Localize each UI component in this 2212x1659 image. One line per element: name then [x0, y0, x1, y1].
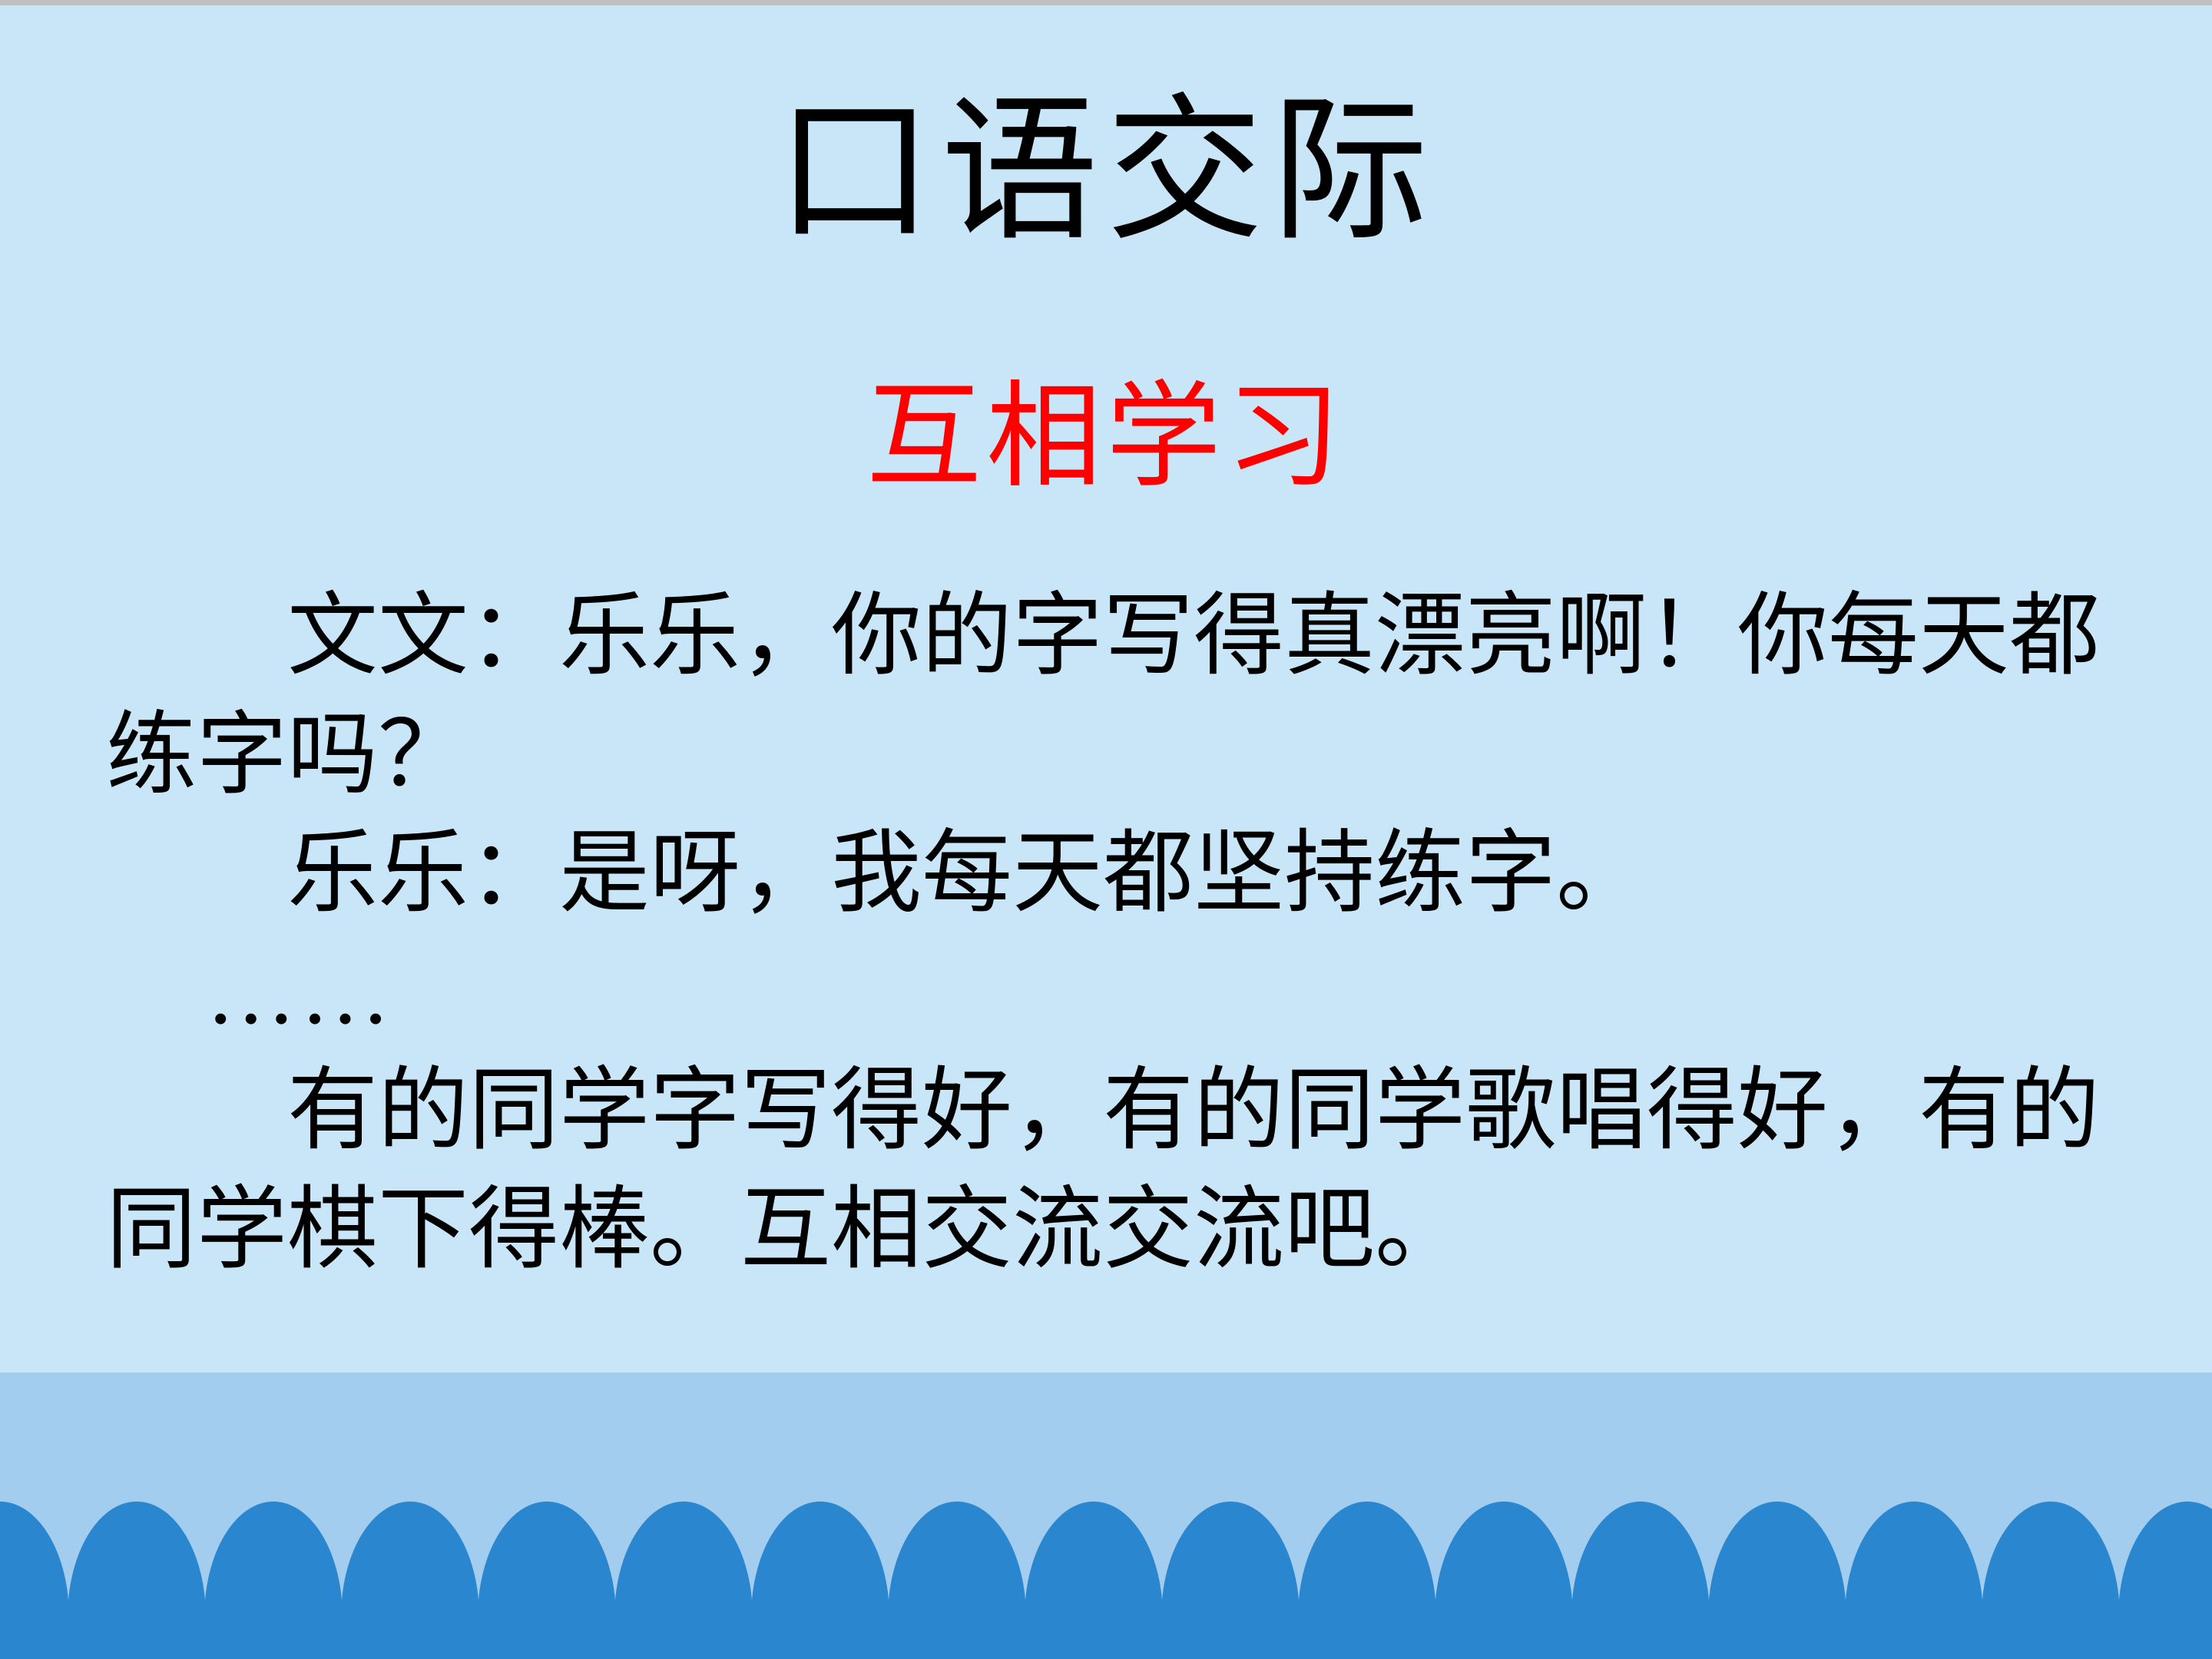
page-title: 口语交际: [0, 90, 2212, 255]
top-gray-bar: [0, 0, 2212, 5]
dome-shape: [68, 1584, 206, 1659]
dome-shape: [1161, 1584, 1300, 1659]
body-paragraph-2: 乐乐：是呀，我每天都坚持练字。: [106, 815, 2118, 934]
dome-shape: [2118, 1584, 2212, 1659]
dome-shape: [888, 1584, 1026, 1659]
body-text-block: 文文：乐乐，你的字写得真漂亮啊！你每天都练字吗？ 乐乐：是呀，我每天都坚持练字。…: [106, 578, 2118, 1290]
dome-shape: [0, 1584, 69, 1659]
body-paragraph-1: 文文：乐乐，你的字写得真漂亮啊！你每天都练字吗？: [106, 578, 2118, 815]
dome-shape: [204, 1584, 343, 1659]
dome-shape: [1435, 1584, 1573, 1659]
bottom-decoration: [0, 1373, 2212, 1659]
dome-shape: [1708, 1584, 1846, 1659]
dome-shape: [1298, 1584, 1436, 1659]
dome-shape: [478, 1584, 616, 1659]
slide-content-area: 口语交际 互相学习 文文：乐乐，你的字写得真漂亮啊！你每天都练字吗？ 乐乐：是呀…: [0, 5, 2212, 1373]
dome-shape: [1845, 1584, 1983, 1659]
dome-shape: [1982, 1584, 2120, 1659]
presentation-slide: 口语交际 互相学习 文文：乐乐，你的字写得真漂亮啊！你每天都练字吗？ 乐乐：是呀…: [0, 0, 2212, 1659]
dome-shape: [614, 1584, 753, 1659]
slide-subtitle: 互相学习: [0, 378, 2212, 499]
dome-shape: [1571, 1584, 1710, 1659]
body-paragraph-3: 有的同学字写得好，有的同学歌唱得好，有的同学棋下得棒。互相交流交流吧。: [106, 1052, 2118, 1290]
dome-shape: [751, 1584, 889, 1659]
dome-shape: [1025, 1584, 1163, 1659]
dome-shape: [341, 1584, 479, 1659]
dome-row-front: [0, 1584, 2212, 1659]
body-paragraph-ellipsis: ……: [106, 934, 2118, 1053]
